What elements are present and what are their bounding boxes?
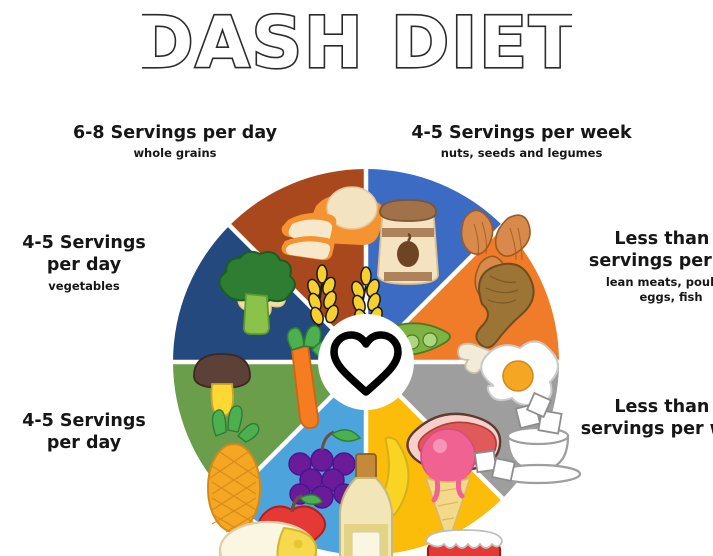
- label-nuts-seeds-legumes: 4-5 Servings per week nuts, seeds and le…: [400, 122, 643, 161]
- pineapple-icon: [208, 406, 260, 532]
- peanut-butter-jar-icon: [378, 200, 438, 284]
- title-outline-text: DASH DIET: [142, 9, 572, 89]
- poster-title: DASH DIET: [0, 8, 713, 90]
- label-fruits-heading: 4-5 Servings per day: [8, 410, 160, 455]
- label-fruits: 4-5 Servings per day: [8, 410, 160, 457]
- label-lean-meats: Less than 6 servings per day lean meats,…: [576, 228, 713, 305]
- label-vegetables-heading: 4-5 Servings per day: [8, 232, 160, 277]
- label-whole-grains: 6-8 Servings per day whole grains: [52, 122, 298, 161]
- label-sweets-heading: Less than 5 servings per week: [576, 396, 713, 441]
- dash-diet-wheel: [172, 168, 560, 556]
- jam-jar-icon: [426, 530, 502, 556]
- label-vegetables-subtitle: vegetables: [8, 279, 160, 294]
- fried-egg-icon: [481, 341, 558, 405]
- label-vegetables: 4-5 Servings per day vegetables: [8, 232, 160, 294]
- page-title: DASH DIET: [142, 9, 572, 84]
- label-grains-heading: 6-8 Servings per day: [52, 122, 298, 144]
- label-grains-subtitle: whole grains: [52, 146, 298, 161]
- label-nuts-subtitle: nuts, seeds and legumes: [400, 146, 643, 161]
- label-meats-subtitle: lean meats, poultry, eggs, fish: [576, 275, 713, 305]
- label-sweets: Less than 5 servings per week: [576, 396, 713, 443]
- label-meats-heading: Less than 6 servings per day: [576, 228, 713, 273]
- label-nuts-heading: 4-5 Servings per week: [400, 122, 643, 144]
